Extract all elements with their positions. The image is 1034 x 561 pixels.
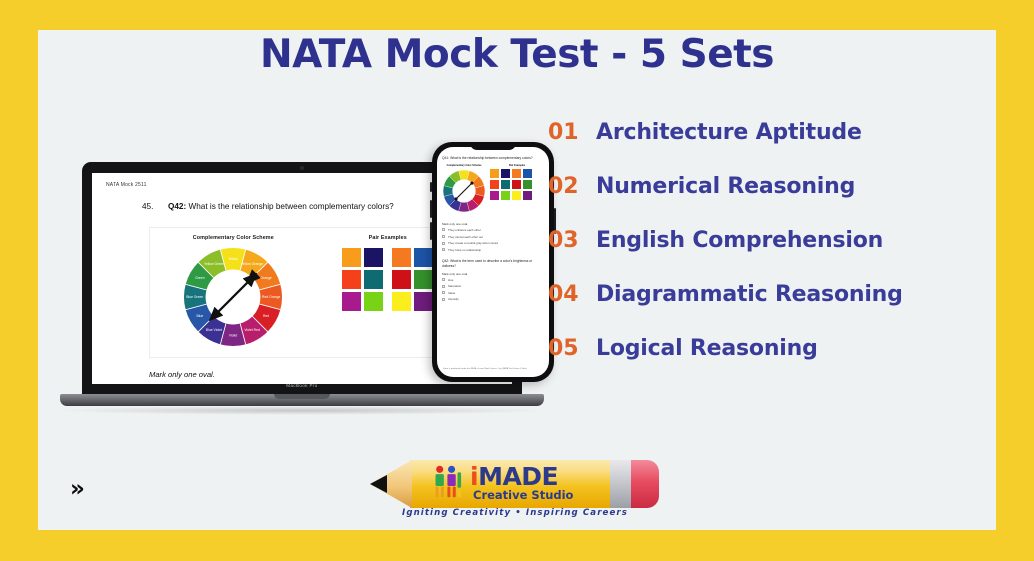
- question-text: What is the relationship between complem…: [188, 202, 393, 211]
- pencil-lead-shape: [370, 475, 387, 493]
- color-wheel-icon: YellowYellow OrangeOrangeRed OrangeRedVi…: [181, 245, 285, 349]
- laptop-notch: [274, 394, 330, 399]
- laptop-shadow: [52, 406, 552, 415]
- color-swatch: [392, 248, 411, 267]
- phone-screen: Q41: What is the relationship between co…: [437, 147, 549, 377]
- phone-mockup: Q41: What is the relationship between co…: [432, 142, 554, 382]
- topic-number: 03: [548, 228, 582, 253]
- topic-row: 03English Comprehension: [548, 228, 948, 282]
- question-tag: Q42:: [168, 202, 186, 211]
- phone-answer-option[interactable]: Intensity: [442, 297, 544, 301]
- color-wheel-segment-label: Red Orange: [262, 295, 281, 299]
- phone-radio-icon[interactable]: [442, 248, 445, 251]
- color-swatch: [501, 169, 510, 178]
- phone-answer-option[interactable]: Saturation: [442, 284, 544, 288]
- logo-wordmark: iMADE: [470, 462, 558, 491]
- color-swatch: [490, 191, 499, 200]
- phone-radio-icon[interactable]: [442, 242, 445, 245]
- phone-answer-option[interactable]: They create a neutral gray when mixed: [442, 241, 544, 245]
- phone-figure: Complementary Color Scheme Pair Examples: [442, 164, 544, 218]
- phone-answer-option[interactable]: Value: [442, 291, 544, 295]
- color-swatch: [512, 191, 521, 200]
- color-wheel-wrap: YellowYellow OrangeOrangeRed OrangeRedVi…: [156, 245, 311, 349]
- topic-row: 02Numerical Reasoning: [548, 174, 948, 228]
- pencil-ferrule-shape: [610, 460, 632, 508]
- topic-row: 05Logical Reasoning: [548, 336, 948, 390]
- phone-radio-icon[interactable]: [442, 235, 445, 238]
- color-wheel-segment-label: Yellow Orange: [241, 262, 263, 266]
- phone-pair-swatches: [490, 169, 544, 200]
- pencil-eraser-shape: [631, 460, 659, 508]
- laptop-brand-label: MacBook Pro: [286, 383, 317, 388]
- phone-options-a[interactable]: They enhance each otherThey cancel each …: [442, 228, 544, 252]
- phone-wheel-column: Complementary Color Scheme: [442, 164, 486, 218]
- topic-number: 01: [548, 120, 582, 145]
- phone-answer-option-label: Saturation: [448, 284, 461, 288]
- color-swatch: [364, 248, 383, 267]
- topic-label: Architecture Aptitude: [596, 120, 862, 145]
- color-swatch: [414, 248, 433, 267]
- phone-answer-option[interactable]: They cancel each other out: [442, 235, 544, 239]
- phone-answer-option-label: They cancel each other out: [448, 235, 483, 239]
- color-swatch: [523, 180, 532, 189]
- phone-radio-icon[interactable]: [442, 291, 445, 294]
- figure-card: Complementary Color Scheme YellowYellow …: [149, 227, 472, 358]
- laptop-camera-icon: [300, 166, 304, 170]
- color-swatch: [364, 292, 383, 311]
- phone-answer-option[interactable]: They have no relationship: [442, 248, 544, 252]
- color-swatch: [523, 169, 532, 178]
- phone-volume-down-button[interactable]: [430, 222, 432, 240]
- phone-options-b[interactable]: HueSaturationValueIntensity: [442, 278, 544, 302]
- figure-wheel-title: Complementary Color Scheme: [156, 235, 311, 241]
- phone-answer-option-label: They have no relationship: [448, 248, 481, 252]
- phone-wheel-title: Complementary Color Scheme: [442, 164, 486, 167]
- phone-answer-option-label: Value: [448, 291, 455, 295]
- color-swatch: [392, 292, 411, 311]
- slide-root: NATA Mock Test - 5 Sets NATA Mock 2511 1…: [0, 0, 1034, 561]
- color-swatch: [501, 180, 510, 189]
- topic-row: 01Architecture Aptitude: [548, 120, 948, 174]
- color-swatch: [364, 270, 383, 289]
- document-header-left: NATA Mock 2511: [106, 182, 147, 188]
- topic-list: 01Architecture Aptitude02Numerical Reaso…: [548, 120, 948, 390]
- color-wheel-segment-label: Blue Violet: [206, 328, 222, 332]
- phone-answer-option[interactable]: Hue: [442, 278, 544, 282]
- color-swatch: [342, 270, 361, 289]
- logo-word-made: MADE: [478, 462, 558, 491]
- phone-radio-icon[interactable]: [442, 285, 445, 288]
- color-swatch: [342, 248, 361, 267]
- device-mockup-group: NATA Mock 2511 11/05 45.Q42: What is the…: [60, 150, 560, 440]
- phone-radio-icon[interactable]: [442, 298, 445, 301]
- phone-radio-icon[interactable]: [442, 228, 445, 231]
- color-wheel-segment-label: Yellow Green: [204, 262, 224, 266]
- color-swatch: [512, 169, 521, 178]
- color-swatch: [414, 292, 433, 311]
- topic-label: Logical Reasoning: [596, 336, 818, 361]
- color-wheel-segment-label: Blue: [197, 314, 204, 318]
- question-number: 45.: [142, 202, 168, 211]
- color-wheel-segment-label: Orange: [261, 276, 272, 280]
- color-swatch: [512, 180, 521, 189]
- topic-label: Numerical Reasoning: [596, 174, 855, 199]
- logo-subtitle: Creative Studio: [473, 488, 573, 502]
- phone-mute-button[interactable]: [430, 182, 432, 192]
- color-swatch: [490, 169, 499, 178]
- phone-volume-up-button[interactable]: [430, 200, 432, 218]
- page-title: NATA Mock Test - 5 Sets: [0, 32, 1034, 77]
- color-swatch: [392, 270, 411, 289]
- phone-answer-option-label: They enhance each other: [448, 228, 481, 232]
- phone-question-b: Q42: What is the term used to describe a…: [442, 259, 544, 269]
- color-swatch: [342, 292, 361, 311]
- phone-radio-icon[interactable]: [442, 278, 445, 281]
- phone-question-a: Q41: What is the relationship between co…: [442, 156, 544, 161]
- phone-notch: [470, 142, 516, 150]
- pair-swatch-group-left: [342, 248, 383, 311]
- topic-number: 04: [548, 282, 582, 307]
- logo-tagline: Igniting Creativity • Inspiring Careers: [370, 508, 660, 518]
- phone-pairs-column: Pair Examples: [490, 164, 544, 200]
- color-wheel-segment-label: Violet: [229, 333, 237, 337]
- color-wheel-segment-label: Red: [263, 314, 269, 318]
- phone-pairs-title: Pair Examples: [490, 164, 544, 167]
- color-wheel-segment-label: Yellow: [228, 257, 238, 261]
- pair-swatch-group-right: [392, 248, 433, 311]
- topic-label: Diagrammatic Reasoning: [596, 282, 903, 307]
- color-swatch: [523, 191, 532, 200]
- topic-label: English Comprehension: [596, 228, 883, 253]
- phone-answer-option-label: Intensity: [448, 297, 459, 301]
- color-wheel-segment-label: Green: [195, 276, 205, 280]
- topic-row: 04Diagrammatic Reasoning: [548, 282, 948, 336]
- phone-color-wheel-icon: [442, 169, 486, 213]
- imade-people-icon: [430, 464, 466, 502]
- color-wheel-segment-label: Violet Red: [245, 328, 261, 332]
- phone-mark-instruction-a: Mark only one oval.: [442, 222, 544, 226]
- phone-footer-note: Form is produced inside the NATA x Learn…: [443, 368, 527, 370]
- phone-answer-option-label: They create a neutral gray when mixed: [448, 241, 498, 245]
- figure-wheel-column: Complementary Color Scheme YellowYellow …: [156, 235, 311, 349]
- next-slide-chevron-icon[interactable]: »: [70, 478, 85, 501]
- color-swatch: [490, 180, 499, 189]
- color-wheel-segment-label: Blue Green: [186, 295, 203, 299]
- topic-number: 05: [548, 336, 582, 361]
- phone-answer-option-label: Hue: [448, 278, 453, 282]
- color-swatch: [501, 191, 510, 200]
- color-swatch: [414, 270, 433, 289]
- brand-logo: iMADE Creative Studio Igniting Creativit…: [370, 452, 660, 524]
- phone-mark-instruction-b: Mark only one oval.: [442, 272, 544, 276]
- phone-answer-option[interactable]: They enhance each other: [442, 228, 544, 232]
- topic-number: 02: [548, 174, 582, 199]
- logo-letter-i: i: [470, 462, 478, 491]
